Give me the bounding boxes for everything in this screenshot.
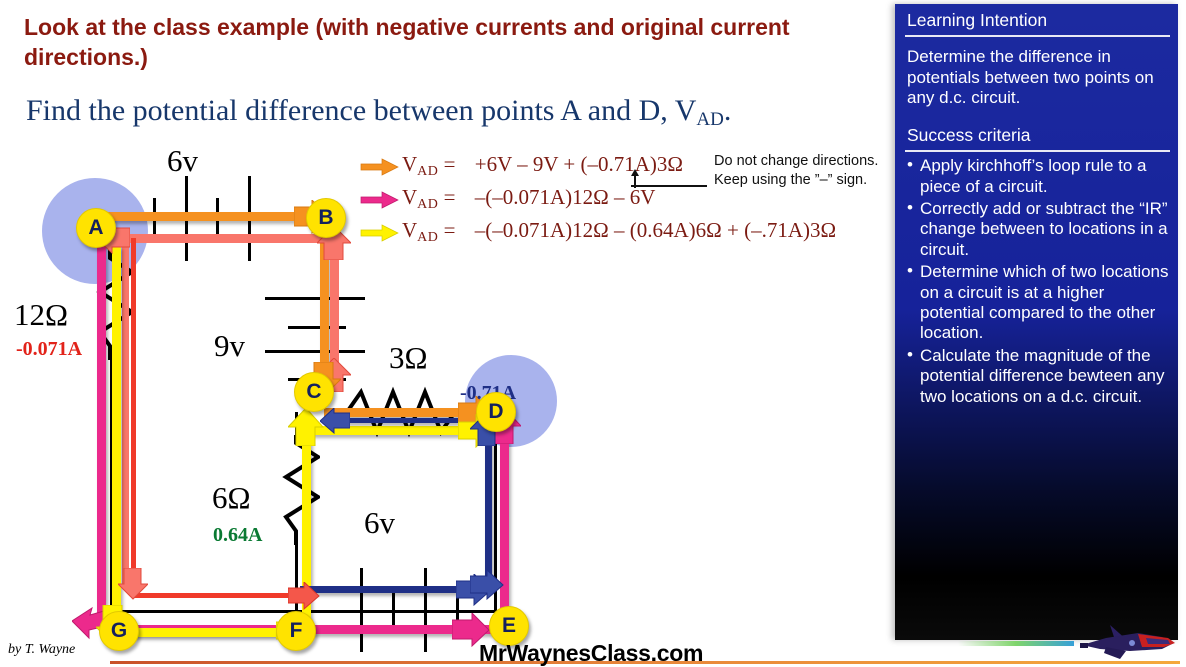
resistor-middle-label: 6Ω: [212, 480, 251, 516]
panel-criteria-title: Success criteria: [895, 109, 1178, 150]
navy-arrowhead-to-c: [320, 408, 350, 434]
salmon-path-left-down: [122, 238, 129, 586]
list-item: Calculate the magnitude of the potential…: [905, 346, 1170, 407]
battery-bot-plate-long-2: [424, 568, 427, 652]
list-item: Correctly add or subtract the “IR” chang…: [905, 199, 1170, 260]
panel-title-divider: [905, 35, 1170, 37]
node-b[interactable]: B: [306, 198, 346, 238]
battery-mid-plate-long-1: [265, 297, 365, 300]
question-text: Find the potential difference between po…: [26, 94, 696, 127]
resistor-3ohm-label: 3Ω: [389, 340, 428, 376]
resistor-6ohm-zigzag: [276, 435, 320, 545]
jet-icon: [1076, 621, 1180, 661]
learning-panel: Learning Intention Determine the differe…: [895, 4, 1178, 640]
node-f-label: F: [290, 619, 303, 643]
node-g[interactable]: G: [99, 611, 139, 651]
battery-bot-plate-short-1: [392, 590, 395, 630]
salmon-path-top: [112, 234, 334, 243]
node-g-label: G: [111, 619, 127, 643]
headline-text: Look at the class example (with negative…: [24, 12, 854, 73]
jet-trail: [958, 641, 1074, 646]
circuit-diagram: A B C D E F G 6v 9v 6v 12Ω -0.071A 6Ω 0.…: [0, 150, 880, 650]
question-subscript: AD: [696, 109, 723, 130]
navy-path-f-e: [300, 586, 480, 593]
node-c[interactable]: C: [294, 372, 334, 412]
node-d-label: D: [488, 400, 503, 424]
node-a-label: A: [88, 216, 103, 240]
magenta-path-a-g: [97, 222, 106, 622]
red-arrowhead-down-left: [118, 568, 148, 600]
list-item: Apply kirchhoff’s loop rule to a piece o…: [905, 156, 1170, 197]
node-b-label: B: [318, 206, 333, 230]
panel-criteria-list: Apply kirchhoff’s loop rule to a piece o…: [895, 156, 1178, 407]
slide-content-area: Look at the class example (with negative…: [0, 0, 880, 667]
battery-middle-label: 9v: [214, 328, 245, 364]
navy-path-c-d: [330, 418, 470, 423]
yellow-path-g-f: [124, 628, 294, 637]
panel-criteria-divider: [905, 150, 1170, 152]
orange-path-a-b: [108, 212, 308, 221]
battery-bot-plate-long-1: [360, 568, 363, 652]
list-item: Determine which of two locations on a ci…: [905, 262, 1170, 344]
node-f[interactable]: F: [276, 611, 316, 651]
node-c-label: C: [306, 380, 321, 404]
node-e-label: E: [502, 614, 516, 638]
battery-mid-plate-long-2: [265, 350, 365, 353]
yellow-arrowhead-up-c: [288, 408, 324, 446]
resistor-left-current: -0.071A: [16, 338, 82, 361]
page-title: Find the potential difference between po…: [26, 94, 731, 131]
battery-top-label: 6v: [167, 143, 198, 179]
byline-text: by T. Wayne: [8, 642, 75, 658]
panel-intention-text: Determine the difference in potentials b…: [907, 47, 1166, 109]
red-path-left-down: [131, 238, 136, 586]
node-d[interactable]: D: [476, 392, 516, 432]
node-a[interactable]: A: [76, 208, 116, 248]
red-path-bottom: [132, 593, 306, 598]
website-label: MrWaynesClass.com: [479, 640, 703, 667]
question-tail: .: [724, 94, 732, 127]
resistor-middle-current: 0.64A: [213, 524, 262, 547]
panel-title: Learning Intention: [895, 4, 1178, 35]
red-arrowhead-to-f: [288, 582, 320, 610]
battery-bottom-label: 6v: [364, 505, 395, 541]
learning-panel-wrapper: Learning Intention Determine the differe…: [880, 0, 1186, 667]
resistor-left-label: 12Ω: [14, 297, 68, 333]
navy-arrowhead-down-e: [470, 570, 504, 600]
